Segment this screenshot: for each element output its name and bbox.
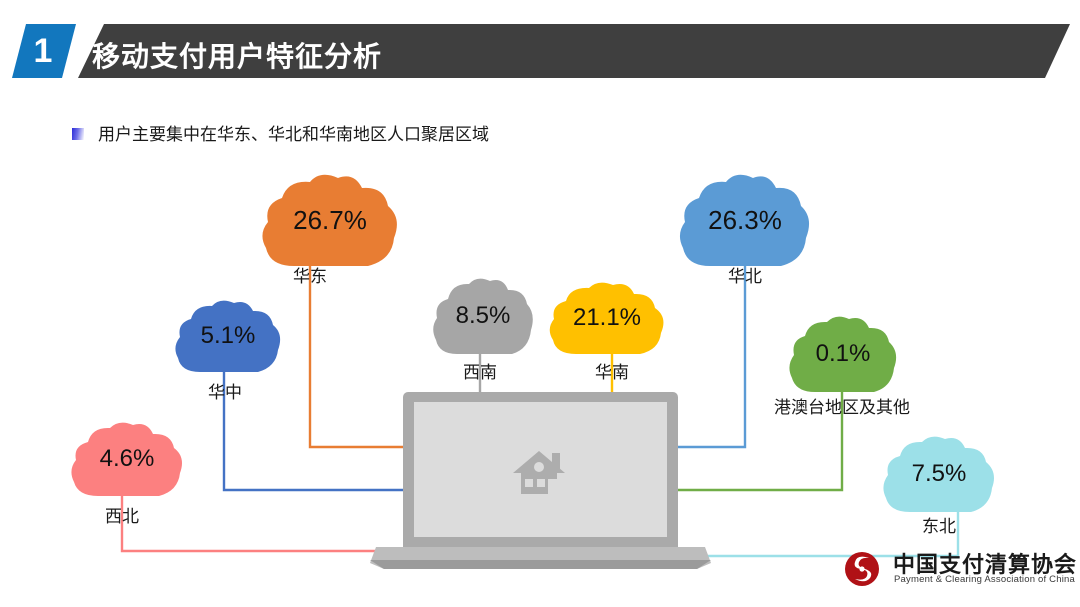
cloud-huabei[interactable]: 26.3%	[676, 174, 814, 266]
laptop-illustration	[403, 392, 678, 582]
cloud-huazhong[interactable]: 5.1%	[172, 300, 284, 372]
cloud-label-xibei: 西北	[90, 502, 154, 527]
wire-huadong	[310, 262, 404, 447]
cloud-xinan[interactable]: 8.5%	[430, 278, 536, 354]
laptop-lid	[403, 392, 678, 547]
slide-root: 1 移动支付用户特征分析 用户主要集中在华东、华北和华南地区人口聚居区域	[0, 0, 1080, 607]
wire-xibei	[122, 492, 404, 551]
logo-english-name: Payment & Clearing Association of China	[894, 574, 1075, 585]
logo-mark-icon	[843, 550, 883, 588]
laptop-base-shadow	[370, 560, 711, 569]
cloud-huadong[interactable]: 26.7%	[258, 174, 402, 266]
cloud-xibei[interactable]: 4.6%	[68, 422, 186, 496]
cloud-huanan[interactable]: 21.1%	[546, 282, 668, 354]
cloud-label-huanan: 华南	[580, 358, 644, 383]
cloud-label-huadong: 华东	[278, 262, 342, 287]
cloud-label-dongbei: 东北	[907, 512, 971, 537]
association-logo: 中国支付清算协会 Payment & Clearing Association …	[843, 548, 1073, 592]
cloud-label-gangaotai: 港澳台地区及其他	[752, 393, 932, 418]
cloud-label-huazhong: 华中	[193, 378, 257, 403]
cloud-label-huabei: 华北	[713, 262, 777, 287]
cloud-label-xinan: 西南	[448, 358, 512, 383]
laptop-screen	[414, 402, 667, 537]
cloud-dongbei[interactable]: 7.5%	[880, 436, 998, 512]
house-icon	[509, 447, 575, 499]
wire-huabei	[677, 262, 745, 447]
cloud-gangaotai[interactable]: 0.1%	[786, 316, 900, 392]
